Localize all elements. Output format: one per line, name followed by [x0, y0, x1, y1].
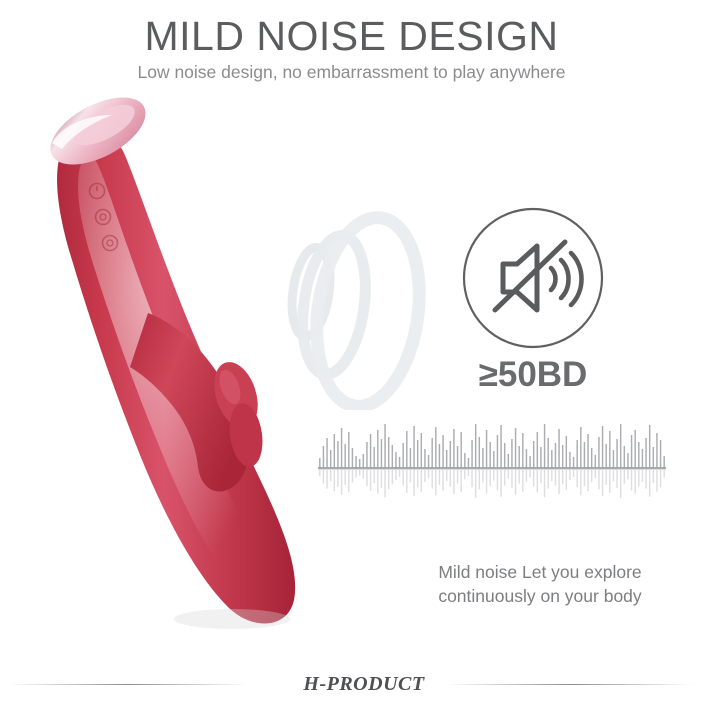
waveform-bar: [537, 432, 538, 468]
waveform-bar: [366, 442, 367, 468]
waveform-bar: [653, 447, 654, 468]
waveform-bar-mirror: [453, 470, 454, 494]
waveform-bar-mirror: [656, 470, 657, 492]
waveform-bar-mirror: [384, 470, 385, 497]
waveform-bar-mirror: [566, 470, 567, 490]
waveform-bar-mirror: [645, 470, 646, 489]
footer-rule-left: [9, 684, 247, 685]
waveform-bar: [421, 433, 422, 468]
waveform-bar: [326, 438, 327, 468]
waveform-bar: [323, 446, 324, 468]
waveform-bar: [435, 427, 436, 468]
waveform-bar: [402, 443, 403, 468]
waveform-bar-mirror: [558, 470, 559, 494]
waveform-bar-mirror: [471, 470, 472, 487]
waveform-bar: [388, 437, 389, 468]
waveform-bar: [609, 431, 610, 468]
waveform-bar-mirror: [591, 470, 592, 482]
waveform-bar-mirror: [370, 470, 371, 491]
waveform-bar: [631, 435, 632, 468]
waveform-bar-mirror: [352, 470, 353, 482]
waveform-bar: [529, 456, 530, 468]
waveform-bar-mirror: [421, 470, 422, 492]
waveform-bar-mirror: [511, 470, 512, 488]
waveform-bar-mirror: [508, 470, 509, 479]
waveform-bar-mirror: [319, 470, 320, 476]
waveform-bar: [591, 448, 592, 468]
waveform-bar: [464, 453, 465, 468]
waveform-bar: [424, 449, 425, 468]
waveform-bar: [620, 424, 621, 468]
waveform-bar: [638, 442, 639, 468]
waveform-bar-mirror: [580, 470, 581, 495]
waveform-bar: [547, 438, 548, 468]
waveform-bar-mirror: [537, 470, 538, 492]
waveform-bar: [482, 448, 483, 468]
waveform-bar-mirror: [417, 470, 418, 487]
waveform-bar-mirror: [460, 470, 461, 492]
waveform-bar: [493, 451, 494, 468]
waveform-bar-mirror: [587, 470, 588, 491]
waveform-bar: [634, 430, 635, 468]
waveform-bar: [616, 439, 617, 468]
waveform-bar: [377, 430, 378, 468]
waveform-bar-mirror: [627, 470, 628, 479]
waveform-bar-mirror: [663, 470, 664, 477]
waveform-bar-mirror: [504, 470, 505, 486]
waveform-bar: [522, 433, 523, 468]
waveform-bar-mirror: [468, 470, 469, 476]
waveform-bar: [511, 439, 512, 468]
audio-waveform: [318, 424, 666, 516]
waveform-bar: [649, 425, 650, 468]
waveform-bar-mirror: [406, 470, 407, 493]
waveform-bar-mirror: [326, 470, 327, 489]
waveform-bar-mirror: [602, 470, 603, 496]
waveform-bar: [439, 444, 440, 468]
waveform-bar: [381, 439, 382, 468]
waveform-bar: [584, 442, 585, 468]
waveform-bar-mirror: [547, 470, 548, 489]
waveform-bar: [352, 448, 353, 468]
waveform-bar: [656, 433, 657, 468]
waveform-bar: [348, 432, 349, 468]
waveform-bar-mirror: [482, 470, 483, 482]
waveform-bar-mirror: [435, 470, 436, 495]
waveform-bar: [417, 440, 418, 468]
waveform-bar-mirror: [642, 470, 643, 482]
waveform-bar-mirror: [402, 470, 403, 486]
waveform-bar-mirror: [341, 470, 342, 495]
waveform-bar: [363, 454, 364, 468]
waveform-bar-mirror: [410, 470, 411, 482]
feature-caption: Mild noise Let you explore continuously …: [395, 560, 685, 608]
waveform-bar: [508, 454, 509, 468]
waveform-bar-mirror: [399, 470, 400, 477]
waveform-bar: [355, 456, 356, 468]
waveform-bar: [370, 434, 371, 468]
waveform-bar: [555, 443, 556, 468]
waveform-bar: [468, 458, 469, 468]
brand-name: H-PRODUCT: [247, 673, 446, 696]
waveform-bar-mirror: [555, 470, 556, 486]
waveform-bar-mirror: [450, 470, 451, 487]
waveform-bar-mirror: [638, 470, 639, 486]
waveform-bar: [576, 440, 577, 468]
waveform-bar-mirror: [348, 470, 349, 492]
waveform-bar-mirror: [439, 470, 440, 485]
waveform-bar-mirror: [653, 470, 654, 483]
waveform-bar: [453, 429, 454, 468]
waveform-bar-mirror: [344, 470, 345, 485]
waveform-bar: [413, 426, 414, 468]
waveform-bar-mirror: [620, 470, 621, 498]
waveform-bar: [384, 424, 385, 468]
caption-line-2: continuously on your body: [395, 584, 685, 608]
waveform-bar: [373, 447, 374, 468]
waveform-bar-mirror: [442, 470, 443, 490]
page-title: MILD NOISE DESIGN: [0, 14, 703, 58]
waveform-bar: [605, 444, 606, 468]
waveform-bar-mirror: [497, 470, 498, 490]
waveform-bar-mirror: [522, 470, 523, 492]
mute-badge: [461, 206, 605, 350]
waveform-bar: [602, 426, 603, 468]
waveform-bar-mirror: [649, 470, 650, 497]
waveform-bar-mirror: [573, 470, 574, 477]
waveform-bar-mirror: [576, 470, 577, 487]
waveform-bar-mirror: [355, 470, 356, 477]
waveform-bar: [660, 440, 661, 468]
waveform-bar-mirror: [381, 470, 382, 488]
waveform-bar: [598, 437, 599, 468]
noise-level-label: ≥50BD: [443, 355, 623, 395]
waveform-bar-mirror: [595, 470, 596, 478]
waveform-bar-mirror: [613, 470, 614, 481]
waveform-bar-mirror: [518, 470, 519, 484]
waveform-bar: [457, 446, 458, 468]
waveform-bar-mirror: [500, 470, 501, 497]
product-shadow: [174, 609, 290, 629]
waveform-bar: [642, 449, 643, 468]
waveform-bar: [663, 456, 664, 468]
waveform-bar-mirror: [388, 470, 389, 489]
waveform-bar-mirror: [486, 470, 487, 494]
waveform-bar-mirror: [562, 470, 563, 484]
waveform-bar-mirror: [605, 470, 606, 485]
waveform-bar: [558, 429, 559, 468]
waveform-bar-mirror: [395, 470, 396, 480]
waveform-bar: [486, 430, 487, 468]
waveform-bar: [526, 449, 527, 468]
waveform-bar-mirror: [366, 470, 367, 486]
footer-rule-right: [447, 684, 694, 685]
waveform-bar: [399, 457, 400, 468]
waveform-bar-mirror: [624, 470, 625, 484]
waveform-bar-mirror: [392, 470, 393, 484]
waveform-bar-mirror: [431, 470, 432, 489]
waveform-bar: [319, 458, 320, 468]
waveform-bar: [344, 444, 345, 468]
waveform-bar: [431, 438, 432, 468]
waveform-bar: [330, 450, 331, 468]
waveform-bar: [460, 432, 461, 468]
waveform-bar-mirror: [464, 470, 465, 479]
waveform-bar-mirror: [489, 470, 490, 486]
waveform-bar: [410, 448, 411, 468]
waveform-bar: [573, 457, 574, 468]
waveform-bar-mirror: [598, 470, 599, 489]
waveform-bar: [504, 443, 505, 468]
waveform-bar-mirror: [551, 470, 552, 481]
waveform-bar: [395, 452, 396, 468]
waveform-bar-mirror: [634, 470, 635, 494]
waveform-bar: [613, 450, 614, 468]
waveform-axis: [318, 467, 666, 469]
waveform-bar: [500, 425, 501, 468]
waveform-bar-mirror: [526, 470, 527, 482]
waveform-bar: [475, 424, 476, 468]
waveform-bar-mirror: [616, 470, 617, 488]
waveform-bar: [624, 446, 625, 468]
waveform-bar: [544, 424, 545, 468]
waveform-bar-mirror: [413, 470, 414, 496]
waveform-bar: [562, 445, 563, 468]
waveform-bar: [580, 427, 581, 468]
waveform-bar: [551, 450, 552, 468]
waveform-bar: [489, 442, 490, 468]
waveform-bar-mirror: [609, 470, 610, 493]
sound-wave-rings: [270, 200, 450, 410]
footer: H-PRODUCT: [0, 668, 703, 700]
waveform-bar: [450, 441, 451, 468]
waveform-bar-mirror: [475, 470, 476, 498]
waveform-bar: [595, 455, 596, 468]
waveform-bar: [518, 446, 519, 468]
waveform-bar-mirror: [569, 470, 570, 480]
waveform-bar: [337, 441, 338, 468]
waveform-bar: [471, 440, 472, 468]
waveform-bar-mirror: [373, 470, 374, 483]
waveform-bar-mirror: [533, 470, 534, 487]
waveform-bar: [479, 437, 480, 468]
waveform-bar-mirror: [377, 470, 378, 494]
product-feature-slide: MILD NOISE DESIGN Low noise design, no e…: [0, 0, 703, 711]
waveform-bar: [533, 441, 534, 468]
waveform-bar: [540, 447, 541, 468]
waveform-bar: [645, 438, 646, 468]
waveform-bar-mirror: [515, 470, 516, 495]
waveform-bar: [428, 455, 429, 468]
waveform-bar-mirror: [337, 470, 338, 487]
waveform-bar-mirror: [359, 470, 360, 476]
waveform-bar-mirror: [446, 470, 447, 481]
waveform-bar: [442, 435, 443, 468]
waveform-bar-mirror: [457, 470, 458, 484]
page-subtitle: Low noise design, no embarrassment to pl…: [0, 61, 703, 83]
waveform-bar-mirror: [334, 470, 335, 491]
waveform-bar: [569, 452, 570, 468]
waveform-bar: [566, 436, 567, 468]
sound-wave-arcs-icon: [551, 253, 582, 305]
waveform-bar-mirror: [584, 470, 585, 486]
waveform-bar-mirror: [428, 470, 429, 478]
waveform-bar: [392, 445, 393, 468]
waveform-bar-mirror: [479, 470, 480, 489]
waveform-bar-mirror: [544, 470, 545, 497]
waveform-bar: [341, 428, 342, 468]
waveform-bar: [446, 450, 447, 468]
waveform-bar: [359, 459, 360, 468]
waveform-bar-mirror: [330, 470, 331, 481]
waveform-bar-mirror: [631, 470, 632, 490]
waveform-bar-mirror: [529, 470, 530, 477]
waveform-bar: [497, 435, 498, 468]
waveform-bar-mirror: [363, 470, 364, 479]
waveform-bar-mirror: [540, 470, 541, 483]
waveform-bar-mirror: [424, 470, 425, 482]
waveform-bar: [334, 434, 335, 468]
waveform-bar: [627, 453, 628, 468]
waveform-bar: [406, 431, 407, 468]
waveform-bar-mirror: [493, 470, 494, 481]
waveform-bar-mirror: [323, 470, 324, 484]
waveform-bar: [587, 434, 588, 468]
waveform-bar: [515, 428, 516, 468]
waveform-bar-mirror: [660, 470, 661, 487]
caption-line-1: Mild noise Let you explore: [395, 560, 685, 584]
